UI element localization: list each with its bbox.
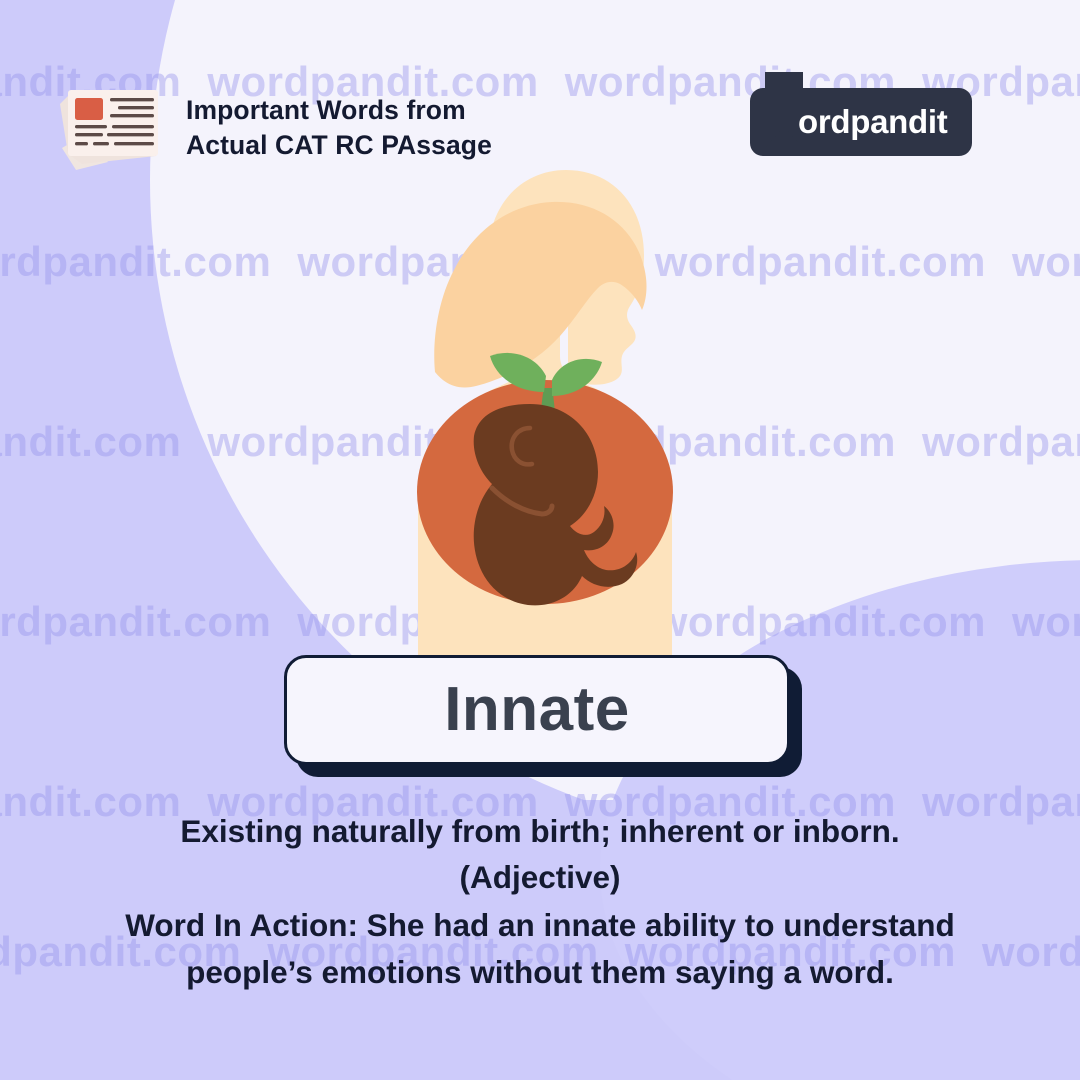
word-card[interactable]: Innate xyxy=(284,655,790,765)
logo-text: ordpandit xyxy=(798,88,947,156)
header-title: Important Words from Actual CAT RC PAssa… xyxy=(186,93,492,164)
word-title: Innate xyxy=(444,679,630,741)
vocabulary-card-page: wordpandit.comwordpandit.comwordpandit.c… xyxy=(0,0,1080,1080)
example-line-1: Word In Action: She had an innate abilit… xyxy=(0,902,1080,948)
definition-text: Existing naturally from birth; inherent … xyxy=(0,808,1080,854)
wordpandit-logo[interactable]: ordpandit xyxy=(750,88,972,156)
word-card-body[interactable]: Innate xyxy=(284,655,790,765)
pregnant-woman-illustration xyxy=(380,160,710,670)
part-of-speech: (Adjective) xyxy=(0,854,1080,900)
example-line-2: people’s emotions without them saying a … xyxy=(0,949,1080,995)
meaning-block: Existing naturally from birth; inherent … xyxy=(0,808,1080,995)
newspaper-icon xyxy=(52,78,170,174)
